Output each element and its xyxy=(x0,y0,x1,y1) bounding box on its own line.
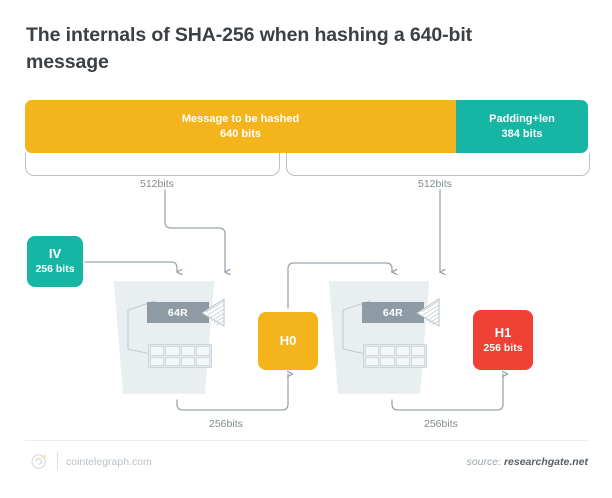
connector-wires xyxy=(0,0,612,498)
infographic-canvas: The internals of SHA-256 when hashing a … xyxy=(0,0,612,498)
state-cell xyxy=(380,346,394,356)
compression-block-1-fan-icon xyxy=(200,297,227,328)
node-h0-label: H0 xyxy=(280,333,297,350)
state-cell xyxy=(365,346,379,356)
state-cell xyxy=(396,346,410,356)
state-cell xyxy=(165,346,179,356)
node-iv-bits: 256 bits xyxy=(35,263,74,277)
cointelegraph-logo-icon xyxy=(30,452,49,471)
footer-site-label: cointelegraph.com xyxy=(66,456,152,468)
state-cell xyxy=(150,346,164,356)
footer-separator xyxy=(57,452,58,470)
state-cell xyxy=(396,357,410,367)
footer-source: source: researchgate.net xyxy=(467,456,588,468)
node-h1: H1 256 bits xyxy=(473,310,533,370)
state-cell xyxy=(365,357,379,367)
node-iv-label: IV xyxy=(49,246,61,263)
node-h1-label: H1 xyxy=(495,325,512,342)
state-cell xyxy=(196,346,210,356)
compression-block-2: 64R xyxy=(322,275,436,400)
state-cell xyxy=(165,357,179,367)
compression-block-2-state-grid xyxy=(363,344,427,368)
footer-source-prefix: source: xyxy=(467,456,501,468)
footer-source-name: researchgate.net xyxy=(504,456,588,468)
compression-block-2-rounds-label: 64R xyxy=(383,307,403,319)
state-cell xyxy=(196,357,210,367)
compression-block-1-rounds-label: 64R xyxy=(168,307,188,319)
node-h0: H0 xyxy=(258,312,318,370)
node-h1-bits: 256 bits xyxy=(483,342,522,356)
compression-block-1-state-grid xyxy=(148,344,212,368)
compression-block-2-fan-icon xyxy=(415,297,442,328)
state-cell xyxy=(411,346,425,356)
output-label-block-1: 256bits xyxy=(209,418,243,430)
state-cell xyxy=(380,357,394,367)
state-cell xyxy=(411,357,425,367)
state-cell xyxy=(181,346,195,356)
node-iv: IV 256 bits xyxy=(27,236,83,287)
state-cell xyxy=(150,357,164,367)
output-label-block-2: 256bits xyxy=(424,418,458,430)
compression-block-1: 64R xyxy=(107,275,221,400)
footer-divider-rule xyxy=(25,440,588,441)
state-cell xyxy=(181,357,195,367)
